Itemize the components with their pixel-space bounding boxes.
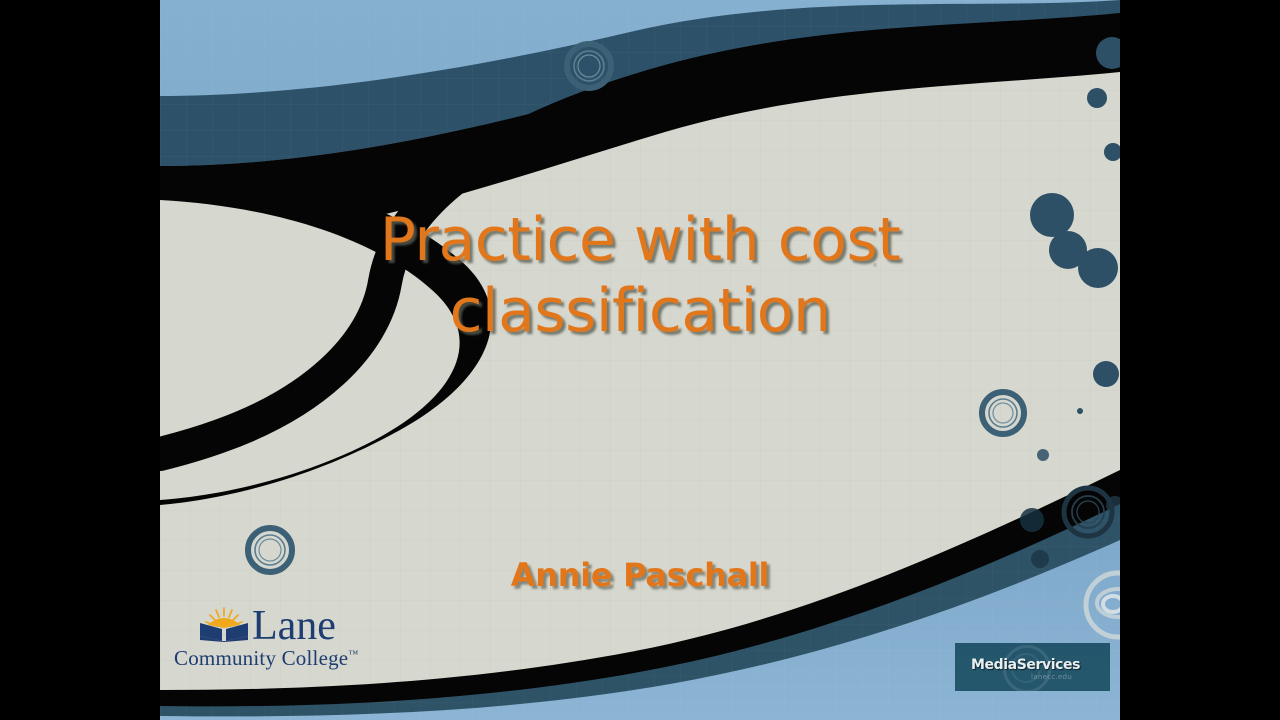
letterbox-bar-left	[0, 0, 160, 720]
logo-wordmark: Lane	[252, 607, 336, 645]
trademark-symbol: ™	[348, 649, 358, 660]
presenter-name: Annie Paschall	[340, 556, 940, 594]
watermark-label: MediaServices	[971, 657, 1080, 673]
letterbox-bar-right	[1120, 0, 1280, 720]
logo-tagline: Community College™	[174, 646, 358, 671]
slide-content-layer: Practice with cost classification Annie …	[160, 0, 1120, 720]
lane-book-sunrise-icon	[198, 606, 250, 642]
logo-tagline-text: Community College	[174, 646, 348, 670]
watermark-sublabel: lanecc.edu	[1031, 673, 1072, 681]
presentation-slide-viewer: Practice with cost classification Annie …	[0, 0, 1280, 720]
mediaservices-watermark: MediaServices lanecc.edu	[955, 643, 1110, 691]
lane-community-college-logo: Lane Community College™	[172, 606, 382, 672]
slide-canvas: Practice with cost classification Annie …	[160, 0, 1120, 720]
page-title: Practice with cost classification	[280, 205, 1000, 347]
